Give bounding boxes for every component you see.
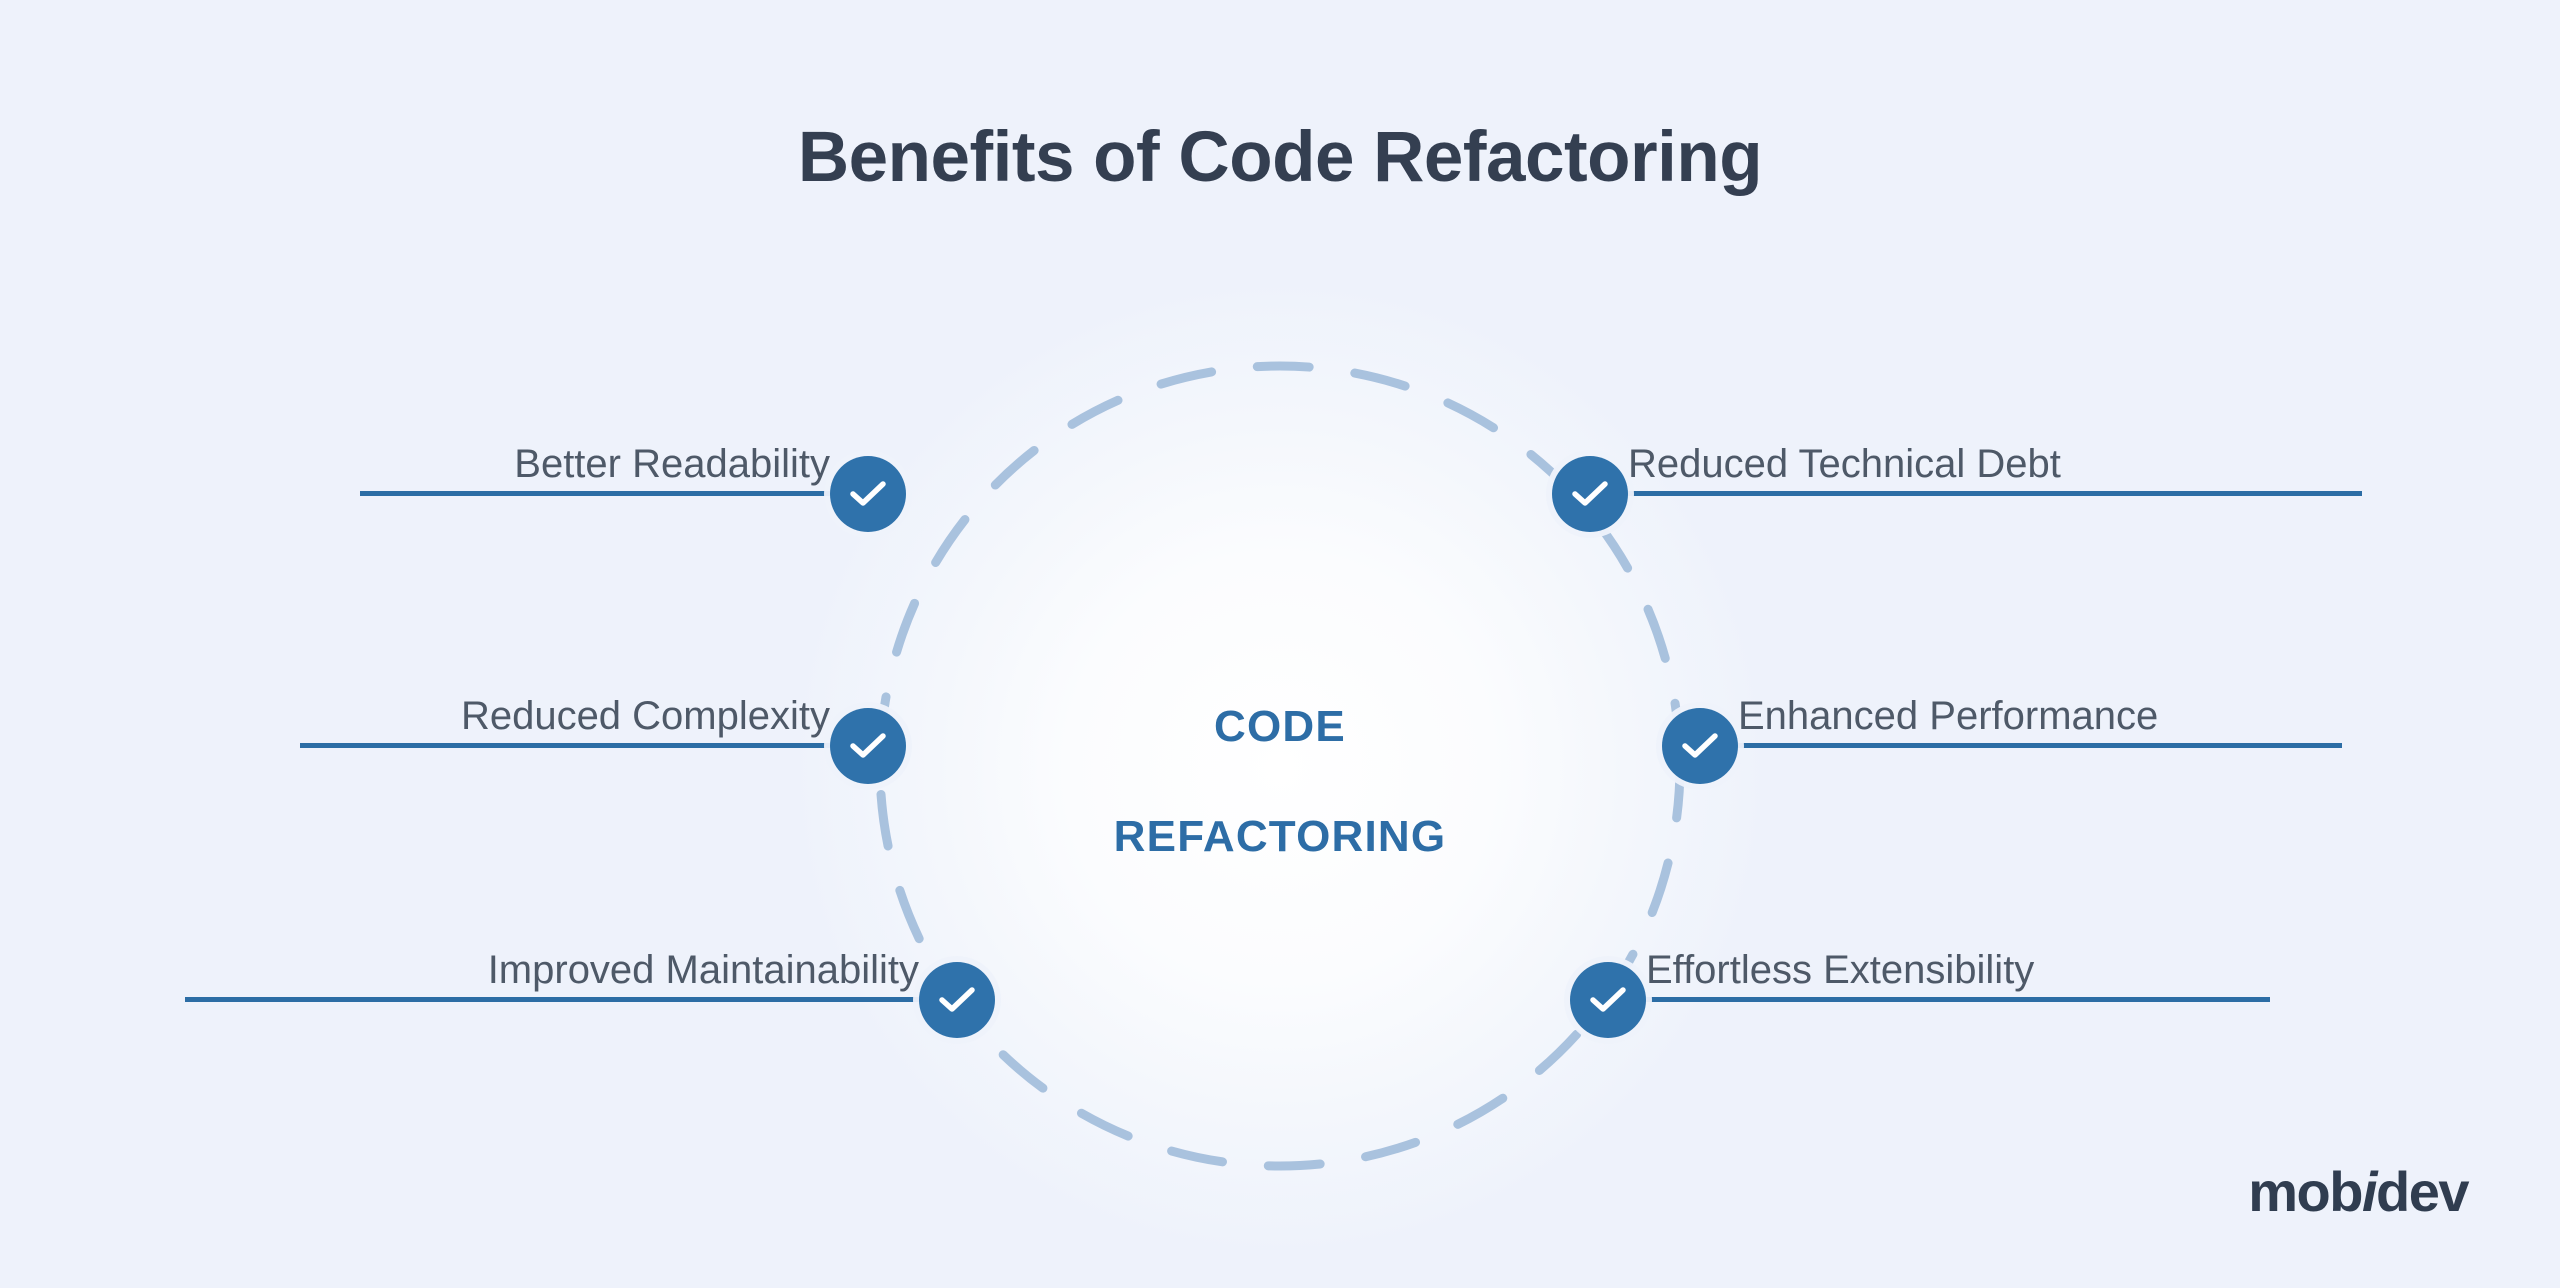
benefit-node[interactable]	[830, 708, 906, 784]
center-label: CODE REFACTORING	[1030, 672, 1530, 892]
benefit-label: Reduced Technical Debt	[1628, 444, 2061, 484]
benefit-item-improved-maintainability[interactable]: Improved Maintainability	[185, 926, 995, 1046]
benefit-label: Reduced Complexity	[461, 696, 830, 736]
connector-line	[185, 997, 935, 1002]
check-icon	[1590, 986, 1626, 1014]
benefit-label: Improved Maintainability	[488, 950, 919, 990]
connector-line	[360, 491, 846, 496]
center-label-line-2: REFACTORING	[1030, 782, 1530, 892]
connector-line	[1630, 997, 2270, 1002]
benefit-item-enhanced-performance[interactable]: Enhanced Performance	[1662, 672, 2342, 792]
benefit-node[interactable]	[830, 456, 906, 532]
benefit-item-effortless-extensibility[interactable]: Effortless Extensibility	[1570, 926, 2270, 1046]
benefit-item-reduced-technical-debt[interactable]: Reduced Technical Debt	[1552, 420, 2362, 540]
check-icon	[850, 480, 886, 508]
check-icon	[1682, 732, 1718, 760]
benefit-node[interactable]	[1552, 456, 1628, 532]
infographic-canvas: Benefits of Code Refactoring CODE REFACT…	[0, 0, 2560, 1288]
benefit-label: Better Readability	[514, 444, 830, 484]
check-icon	[1572, 480, 1608, 508]
mobidev-logo: mobidev	[2248, 1164, 2468, 1220]
connector-line	[1612, 491, 2362, 496]
benefit-label: Enhanced Performance	[1738, 696, 2158, 736]
benefit-item-reduced-complexity[interactable]: Reduced Complexity	[300, 672, 906, 792]
center-label-line-1: CODE	[1030, 672, 1530, 782]
connector-line	[1722, 743, 2342, 748]
check-icon	[850, 732, 886, 760]
benefit-node[interactable]	[1662, 708, 1738, 784]
benefit-node[interactable]	[1570, 962, 1646, 1038]
benefit-node[interactable]	[919, 962, 995, 1038]
benefit-label: Effortless Extensibility	[1646, 950, 2034, 990]
logo-part-1: mob	[2248, 1160, 2362, 1223]
connector-line	[300, 743, 846, 748]
check-icon	[939, 986, 975, 1014]
logo-part-3: dev	[2376, 1160, 2468, 1223]
page-title: Benefits of Code Refactoring	[0, 122, 2560, 193]
logo-part-2: i	[2362, 1160, 2376, 1223]
benefit-item-better-readability[interactable]: Better Readability	[360, 420, 906, 540]
